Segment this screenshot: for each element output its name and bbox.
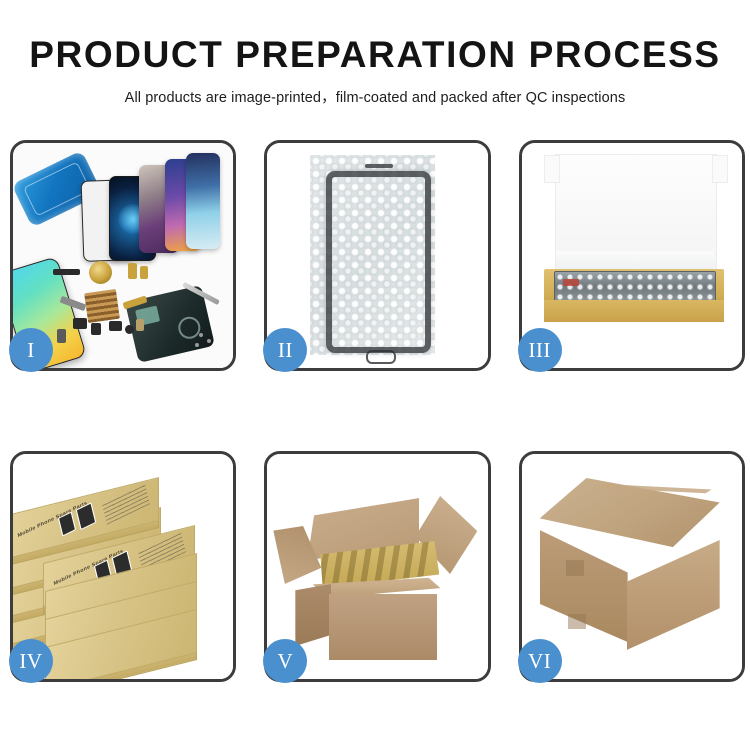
bubble-wrap-icon xyxy=(310,155,435,355)
chip-array-icon xyxy=(84,289,120,323)
step-badge-label: V xyxy=(277,649,293,674)
page-title: PRODUCT PREPARATION PROCESS xyxy=(0,36,750,75)
product-preparation-infographic: PRODUCT PREPARATION PROCESS All products… xyxy=(0,0,750,750)
step-panel-1: I xyxy=(10,140,236,371)
screw-icon xyxy=(195,343,199,347)
copper-coil-icon xyxy=(89,261,112,284)
step-badge-label: III xyxy=(528,338,550,363)
small-part-icon xyxy=(136,319,144,331)
step-badge-label: I xyxy=(27,338,35,363)
steps-grid: I II xyxy=(10,140,745,682)
carton-front-face-icon xyxy=(329,594,437,660)
screw-icon xyxy=(199,333,203,337)
kraft-box-front-icon xyxy=(544,300,724,322)
page-subtitle: All products are image-printed，film-coat… xyxy=(0,86,750,107)
header: PRODUCT PREPARATION PROCESS All products… xyxy=(0,0,750,107)
step-badge-4: IV xyxy=(9,639,53,683)
step-badge-3: III xyxy=(518,328,562,372)
step-panel-6: VI xyxy=(519,451,745,682)
steps-row-bottom: Mobile Phone Spare Parts Mobile Phone Sp… xyxy=(10,451,745,682)
step-badge-1: I xyxy=(9,328,53,372)
home-button-icon xyxy=(366,350,396,364)
earpiece-slot-icon xyxy=(365,164,393,168)
small-part-icon xyxy=(91,323,101,335)
flex-cable-icon xyxy=(128,263,137,279)
wrapped-screen-icon xyxy=(554,271,716,303)
carton-seam-icon xyxy=(566,560,584,576)
carton-left-face-icon xyxy=(295,584,331,646)
box-spec-lines xyxy=(102,484,150,525)
step-badge-5: V xyxy=(263,639,307,683)
step-badge-6: VI xyxy=(518,639,562,683)
step-badge-label: IV xyxy=(19,649,42,674)
box-stack-icon: Mobile Phone Spare Parts Mobile Phone Sp… xyxy=(13,460,233,675)
step-panel-3: III xyxy=(519,140,745,371)
step-badge-label: II xyxy=(278,338,293,363)
step-panel-5: V xyxy=(264,451,490,682)
speaker-strip-icon xyxy=(53,269,80,275)
flex-cable-icon xyxy=(140,266,148,279)
small-part-icon xyxy=(125,325,134,334)
steps-row-top: I II xyxy=(10,140,745,371)
carton-seam-icon xyxy=(568,614,586,629)
phone-screen-teal-icon xyxy=(186,153,220,249)
step-badge-label: VI xyxy=(528,649,551,674)
step-panel-2: II xyxy=(264,140,490,371)
screw-icon xyxy=(207,339,211,343)
small-part-icon xyxy=(109,321,122,331)
step-badge-2: II xyxy=(263,328,307,372)
small-part-icon xyxy=(73,318,87,329)
step-panel-4: Mobile Phone Spare Parts Mobile Phone Sp… xyxy=(10,451,236,682)
small-part-icon xyxy=(57,329,66,343)
carton-right-face-icon xyxy=(627,540,720,650)
phone-glass-screen-icon xyxy=(326,171,431,353)
